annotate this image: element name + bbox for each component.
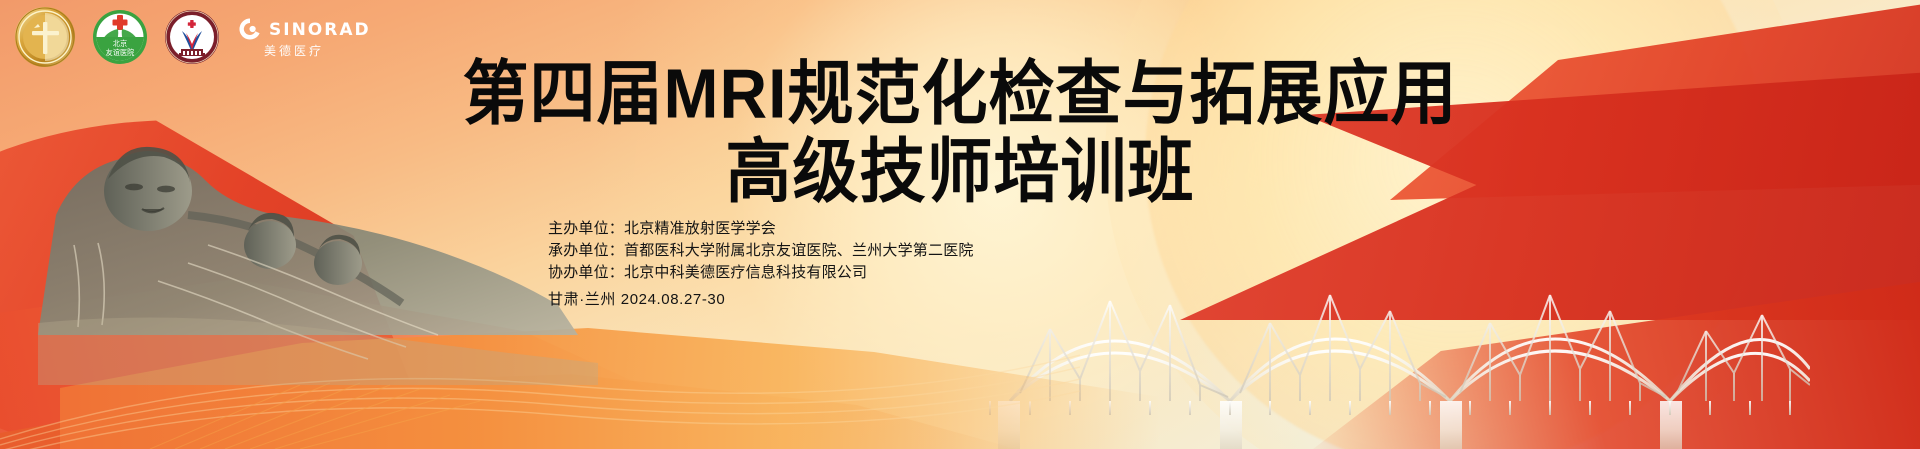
svg-text:北京: 北京 xyxy=(113,39,127,48)
page-title-line-1: 第四届MRI规范化检查与拓展应用 xyxy=(463,58,1458,128)
capital-medical-university-logo xyxy=(164,9,220,65)
sinorad-wordmark: SINORAD xyxy=(269,22,371,39)
maroon-circular-emblem-icon xyxy=(164,9,220,65)
sinorad-logo: SINORAD 美德医疗 xyxy=(238,17,371,57)
location-and-date: 甘肃·兰州 2024.08.27-30 xyxy=(548,289,974,311)
organizer-info-block: 主办单位：北京精准放射医学学会 承办单位：首都医科大学附属北京友谊医院、兰州大学… xyxy=(548,218,974,311)
green-circular-emblem-icon: 北京 友谊医院 xyxy=(92,9,148,65)
gold-circular-emblem-icon xyxy=(14,6,76,68)
beijing-friendship-hospital-logo: 北京 友谊医院 xyxy=(92,9,148,65)
conference-banner: 北京 友谊医院 xyxy=(0,0,1920,449)
attendant-head-2 xyxy=(314,241,362,285)
beijing-precision-radiology-society-logo xyxy=(14,6,76,68)
logo-row: 北京 友谊医院 xyxy=(14,6,371,68)
organizer-coorganizer: 协办单位：北京中科美德医疗信息科技有限公司 xyxy=(548,262,974,284)
organizer-host: 主办单位：北京精准放射医学学会 xyxy=(548,218,974,240)
organizer-undertaker: 承办单位：首都医科大学附属北京友谊医院、兰州大学第二医院 xyxy=(548,240,974,262)
attendant-head-1 xyxy=(244,221,296,269)
page-title-line-2: 高级技师培训班 xyxy=(726,136,1195,206)
sinorad-chinese-name: 美德医疗 xyxy=(264,45,324,57)
title-block: 第四届MRI规范化检查与拓展应用 高级技师培训班 xyxy=(0,60,1920,204)
sinorad-mark-icon xyxy=(238,17,262,41)
svg-text:友谊医院: 友谊医院 xyxy=(106,48,135,57)
